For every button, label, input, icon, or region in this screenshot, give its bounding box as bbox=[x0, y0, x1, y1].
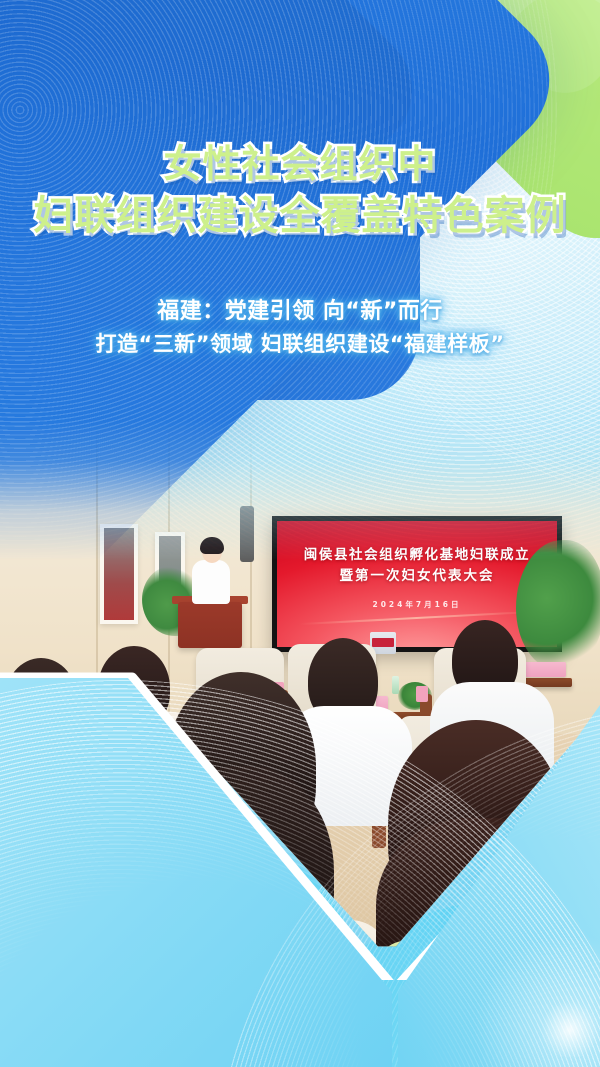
water-bottle-b bbox=[392, 676, 399, 694]
ballot-box-label bbox=[372, 638, 394, 647]
presenter-hair bbox=[200, 537, 224, 554]
name-card-c bbox=[524, 662, 566, 677]
conference-room-scene: 闽侯县社会组织孵化基地妇联成立 暨第一次妇女代表大会 2024年7月16日 bbox=[0, 420, 600, 980]
poster-subtitle-line-1: 福建：党建引领 向“新”而行 bbox=[0, 296, 600, 328]
led-screen-date: 2024年7月16日 bbox=[277, 599, 557, 610]
presenter-body bbox=[192, 560, 230, 604]
attendee-shoulders-1 bbox=[0, 732, 122, 872]
podium bbox=[178, 602, 242, 648]
led-screen-title-line1: 闽侯县社会组织孵化基地妇联成立 bbox=[277, 543, 557, 563]
poster-subtitle-line-2: 打造“三新”领域 妇联组织建设“福建样板” bbox=[0, 328, 600, 360]
led-screen-title-line2: 暨第一次妇女代表大会 bbox=[277, 564, 557, 584]
poster-title-line-1: 女性社会组织中 bbox=[0, 138, 600, 190]
attendee-hair-foreground-left bbox=[150, 766, 334, 996]
poster-canvas: 闽侯县社会组织孵化基地妇联成立 暨第一次妇女代表大会 2024年7月16日 bbox=[0, 0, 600, 1067]
potted-plant-right bbox=[516, 540, 600, 670]
attendee-head-1 bbox=[4, 658, 78, 746]
chair-tab-b bbox=[416, 686, 428, 702]
poster-subtitle: 福建：党建引领 向“新”而行 打造“三新”领域 妇联组织建设“福建样板” bbox=[0, 296, 600, 360]
attendee-head-2 bbox=[98, 646, 170, 730]
wall-artwork-left bbox=[100, 524, 138, 624]
meeting-photo: 闽侯县社会组织孵化基地妇联成立 暨第一次妇女代表大会 2024年7月16日 bbox=[0, 420, 600, 980]
poster-title: 女性社会组织中 妇联组织建设全覆盖特色案例 bbox=[0, 138, 600, 242]
wall-speaker-icon bbox=[240, 506, 254, 562]
poster-title-line-2: 妇联组织建设全覆盖特色案例 bbox=[0, 190, 600, 242]
meeting-photo-clip: 闽侯县社会组织孵化基地妇联成立 暨第一次妇女代表大会 2024年7月16日 bbox=[0, 420, 600, 980]
